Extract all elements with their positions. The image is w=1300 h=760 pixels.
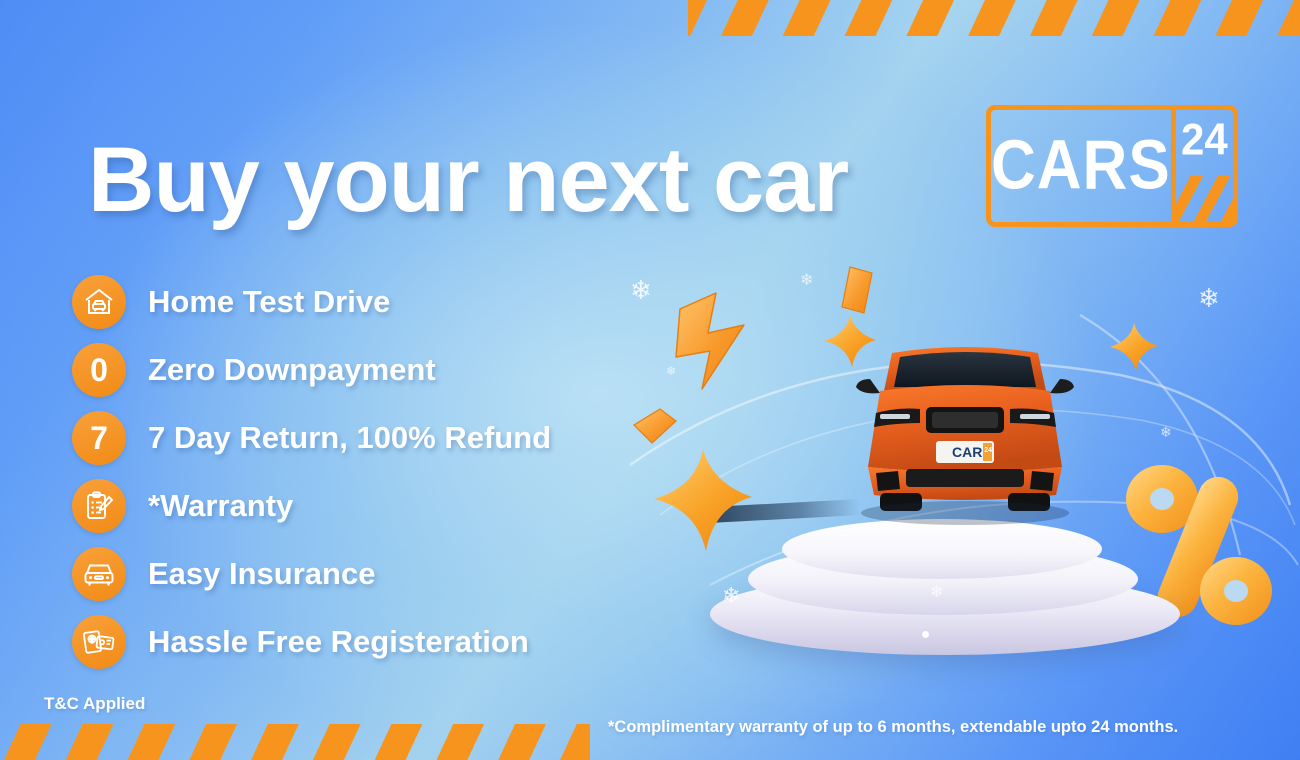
snowflake-icon: ❄ <box>722 585 740 607</box>
feature-label: *Warranty <box>148 488 293 524</box>
podium-highlight-dot <box>922 631 929 638</box>
snowflake-icon: ❄ <box>1198 285 1220 311</box>
seven-digit-icon: 7 <box>72 411 126 465</box>
star-small-right-icon <box>1108 321 1160 373</box>
feature-icon-value: 7 <box>90 422 108 454</box>
promo-banner: Buy your next car CARS 24 Home Tes <box>0 0 1300 760</box>
car-image: CARS 24 <box>840 317 1090 532</box>
feature-label: Home Test Drive <box>148 284 390 320</box>
hero-scene: CARS 24 ❄ ❄ ❄ ❄ ❄ ❄ ❄ <box>600 255 1300 685</box>
lightning-bolt-small-icon <box>838 265 878 317</box>
feature-item-easy-insurance: Easy Insurance <box>72 546 551 602</box>
terms-note: T&C Applied <box>44 694 145 714</box>
feature-item-seven-day-return: 7 7 Day Return, 100% Refund <box>72 410 551 466</box>
car-plate-number: 24 <box>984 447 992 454</box>
car-front-icon <box>72 547 126 601</box>
snowflake-icon: ❄ <box>666 365 676 377</box>
clipboard-pen-icon <box>72 479 126 533</box>
logo-brand-box: CARS <box>991 110 1176 222</box>
documents-icon <box>72 615 126 669</box>
feature-label: Hassle Free Registeration <box>148 624 529 660</box>
lightning-bolt-icon <box>658 285 778 395</box>
snowflake-icon: ❄ <box>1160 425 1172 439</box>
snowflake-icon: ❄ <box>930 585 943 601</box>
diagonal-stripes-top <box>688 0 1300 36</box>
diagonal-stripes-bottom <box>0 724 590 760</box>
zero-digit-icon: 0 <box>72 343 126 397</box>
home-car-icon <box>72 275 126 329</box>
snowflake-icon: ❄ <box>630 277 652 303</box>
feature-label: Easy Insurance <box>148 556 375 592</box>
logo-brand-text: CARS <box>991 131 1171 200</box>
feature-label: 7 Day Return, 100% Refund <box>148 420 551 456</box>
feature-item-hassle-free-registeration: Hassle Free Registeration <box>72 614 551 670</box>
snowflake-icon: ❄ <box>800 273 813 289</box>
feature-list: Home Test Drive 0 Zero Downpayment 7 7 D… <box>72 274 551 682</box>
feature-item-home-test-drive: Home Test Drive <box>72 274 551 330</box>
feature-item-zero-downpayment: 0 Zero Downpayment <box>72 342 551 398</box>
cars24-logo: CARS 24 <box>986 105 1238 227</box>
page-title: Buy your next car <box>88 134 848 226</box>
podium <box>700 513 1180 653</box>
logo-number-box: 24 <box>1176 110 1233 222</box>
feature-icon-value: 0 <box>90 354 108 386</box>
lightning-bolt-fragment-icon <box>630 405 678 445</box>
warranty-disclaimer: *Complimentary warranty of up to 6 month… <box>608 718 1178 737</box>
logo-stripes-icon <box>1176 176 1233 222</box>
feature-item-warranty: *Warranty <box>72 478 551 534</box>
logo-number-text: 24 <box>1181 118 1228 162</box>
feature-label: Zero Downpayment <box>148 352 436 388</box>
